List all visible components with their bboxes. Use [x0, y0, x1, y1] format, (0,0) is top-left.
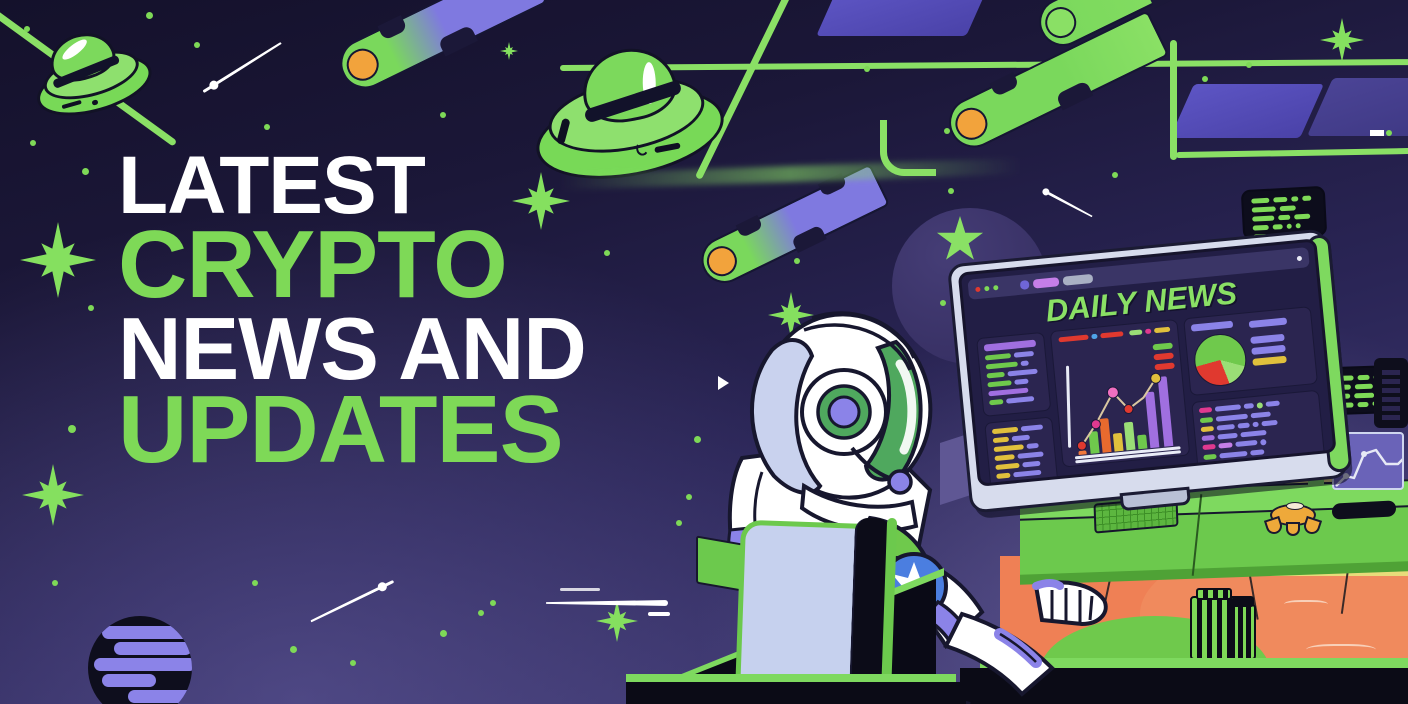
- chart-panel[interactable]: [1050, 319, 1191, 468]
- comet-icon-top-left: [332, 0, 548, 97]
- star-dot: [794, 258, 800, 264]
- green-canisters: [1184, 588, 1258, 660]
- comet-streak: [560, 588, 600, 591]
- star-dot: [68, 425, 76, 433]
- dark-console-lines: [1382, 366, 1400, 420]
- star-dot: [350, 660, 356, 666]
- star-dot: [478, 610, 484, 616]
- star-dot: [264, 124, 270, 130]
- star-icon: [22, 464, 84, 526]
- star-dot: [1202, 76, 1208, 82]
- terrain-squiggle: [1284, 600, 1328, 610]
- star-dot: [52, 580, 58, 586]
- chart-line-series: [1051, 320, 1190, 468]
- window-pane-top-left: [816, 0, 986, 36]
- star-dot: [30, 140, 36, 146]
- browser-tab-3[interactable]: [1063, 273, 1094, 285]
- desk-slot: [1332, 500, 1396, 519]
- star-dot: [1112, 172, 1118, 178]
- chair-floor-dark: [626, 682, 966, 704]
- pie-panel[interactable]: [1183, 306, 1318, 396]
- chair: [636, 498, 936, 704]
- star-dot: [440, 112, 446, 118]
- orange-plant: [1264, 500, 1324, 538]
- star-dot: [604, 250, 610, 256]
- dashboard-panels: [976, 306, 1324, 475]
- window-frame-lower: [1176, 148, 1408, 158]
- star-dot: [440, 630, 447, 637]
- star-icon: [596, 600, 638, 642]
- list-panel-bottom[interactable]: [984, 416, 1058, 486]
- star-dot: [146, 12, 153, 19]
- star-dot: [948, 188, 954, 194]
- browser-tab-1[interactable]: [1020, 280, 1030, 290]
- shooting-star-icon: [308, 576, 395, 625]
- browser-dot-menu[interactable]: [1297, 255, 1302, 260]
- browser-dot-max[interactable]: [993, 284, 998, 289]
- star-dot: [490, 600, 496, 606]
- star-dot: [24, 26, 30, 32]
- terrain-squiggle: [1306, 644, 1376, 658]
- shooting-star-icon: [1038, 184, 1095, 219]
- star-dot: [88, 305, 94, 311]
- star-dot: [1386, 130, 1392, 136]
- poster-canvas: LATEST CRYPTO NEWS AND UPDATES: [0, 0, 1408, 704]
- window-pane-right-small: [1370, 130, 1384, 136]
- star-dot: [864, 66, 870, 72]
- dashboard-left-column: [976, 332, 1057, 475]
- star-dot: [82, 168, 89, 175]
- astronaut-glove: [1036, 582, 1106, 624]
- star-dot: [1246, 62, 1252, 68]
- star-icon: [500, 42, 518, 60]
- star-icon: [1320, 18, 1364, 62]
- dashboard-right-column: [1183, 306, 1324, 455]
- star-dot: [252, 580, 258, 586]
- helmet-mic: [889, 471, 911, 493]
- star-icon: [20, 222, 96, 298]
- browser-dot-min[interactable]: [984, 285, 989, 290]
- monitor-screen[interactable]: DAILY NEWS: [958, 238, 1337, 487]
- pie-chart: [1192, 332, 1249, 389]
- headline-line-4: UPDATES: [118, 385, 586, 474]
- headline-line-2: CRYPTO: [118, 220, 586, 309]
- list-panel-top[interactable]: [976, 332, 1051, 417]
- window-pane-top-right: [1170, 84, 1324, 138]
- star-dot: [290, 646, 297, 653]
- page-title: LATEST CRYPTO NEWS AND UPDATES: [118, 148, 586, 475]
- planet-striped: [88, 616, 192, 704]
- shooting-star-icon: [200, 38, 283, 95]
- browser-tab-2[interactable]: [1033, 277, 1060, 288]
- browser-dot-close[interactable]: [975, 286, 980, 291]
- window-frame-vertical-right: [1170, 40, 1177, 160]
- star-dot: [194, 42, 200, 48]
- monitor[interactable]: DAILY NEWS: [947, 228, 1349, 513]
